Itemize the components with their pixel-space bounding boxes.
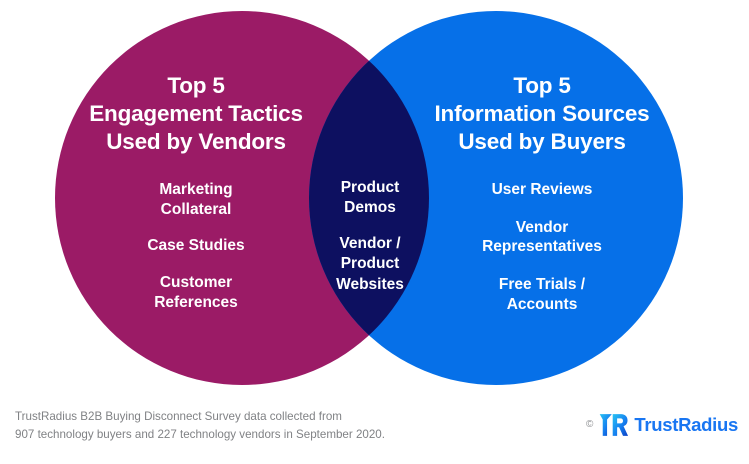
- venn-center-panel: Product Demos Vendor / Product Websites: [313, 178, 427, 295]
- venn-center-item-list: Product Demos Vendor / Product Websites: [313, 178, 427, 295]
- trustradius-brand[interactable]: © TrustRadius: [586, 408, 738, 442]
- trustradius-wordmark: TrustRadius: [634, 416, 738, 435]
- venn-right-item: Free Trials / Accounts: [424, 275, 660, 315]
- venn-center-item: Vendor / Product Websites: [313, 234, 427, 294]
- copyright-icon: ©: [586, 420, 593, 430]
- venn-left-item: Customer References: [78, 273, 314, 313]
- venn-right-title: Top 5 Information Sources Used by Buyers: [424, 72, 660, 156]
- venn-left-title: Top 5 Engagement Tactics Used by Vendors: [78, 72, 314, 156]
- tr-monogram-icon: [599, 412, 629, 438]
- venn-center-item: Product Demos: [313, 178, 427, 218]
- venn-right-item-list: User Reviews Vendor Representatives Free…: [424, 180, 660, 315]
- footer: TrustRadius B2B Buying Disconnect Survey…: [0, 402, 749, 464]
- venn-left-item-list: Marketing Collateral Case Studies Custom…: [78, 180, 314, 313]
- infographic-canvas: Top 5 Engagement Tactics Used by Vendors…: [0, 0, 749, 464]
- venn-right-panel: Top 5 Information Sources Used by Buyers…: [424, 72, 660, 315]
- venn-left-panel: Top 5 Engagement Tactics Used by Vendors…: [78, 72, 314, 313]
- venn-right-item: User Reviews: [424, 180, 660, 200]
- venn-left-item: Marketing Collateral: [78, 180, 314, 220]
- venn-left-item: Case Studies: [78, 236, 314, 256]
- venn-right-item: Vendor Representatives: [424, 218, 660, 258]
- survey-source-note: TrustRadius B2B Buying Disconnect Survey…: [15, 408, 385, 443]
